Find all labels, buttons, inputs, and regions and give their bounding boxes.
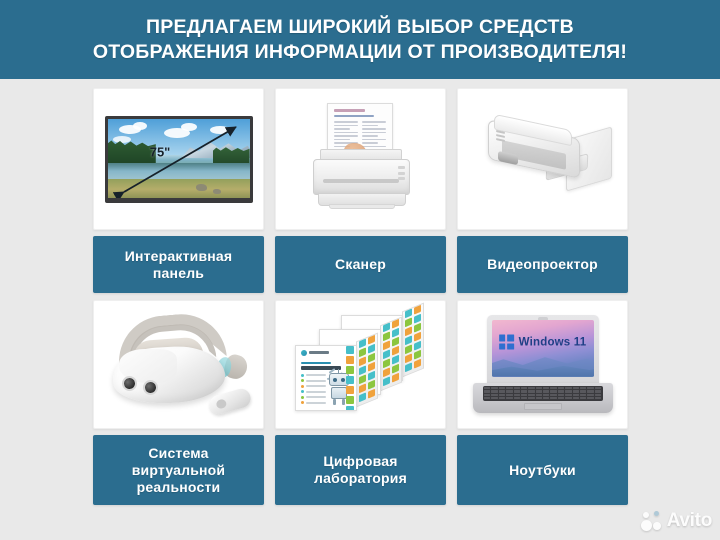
avito-watermark: Avito <box>641 510 712 532</box>
avito-logo-icon <box>641 511 663 531</box>
product-cell-vr[interactable]: Система виртуальной реальности <box>93 300 264 505</box>
product-label: Сканер <box>335 256 386 273</box>
diagonal-measure-arrow <box>108 119 250 198</box>
digital-lab-kit-photo <box>289 313 433 417</box>
product-label: Цифровая лаборатория <box>314 453 407 487</box>
product-grid: 75" Интерактивная панель <box>93 88 628 505</box>
product-label: Система виртуальной реальности <box>132 445 226 496</box>
product-label-card[interactable]: Система виртуальной реальности <box>93 435 264 505</box>
video-projector-photo <box>472 107 614 211</box>
windows-logo-icon <box>499 335 514 350</box>
product-image-card[interactable]: Windows 11 <box>457 300 628 429</box>
product-cell-digital-lab[interactable]: Цифровая лаборатория <box>275 300 446 505</box>
lab-brand-logo <box>301 350 329 356</box>
laptop-photo: Windows 11 <box>473 315 613 415</box>
product-image-card[interactable] <box>275 88 446 230</box>
page-title: ПРЕДЛАГАЕМ ШИРОКИЙ ВЫБОР СРЕДСТВ ОТОБРАЖ… <box>93 15 627 65</box>
vr-headset-photo <box>103 313 255 417</box>
product-label: Видеопроектор <box>487 256 598 273</box>
product-label: Интерактивная панель <box>125 248 233 282</box>
document-scanner-photo <box>296 103 426 215</box>
product-label-card[interactable]: Цифровая лаборатория <box>275 435 446 505</box>
product-label: Ноутбуки <box>509 462 576 479</box>
product-image-card[interactable]: 75" <box>93 88 264 230</box>
product-image-card[interactable] <box>457 88 628 230</box>
panel-size-label: 75" <box>150 144 171 159</box>
product-image-card[interactable] <box>93 300 264 429</box>
product-label-card[interactable]: Сканер <box>275 236 446 293</box>
page-header: ПРЕДЛАГАЕМ ШИРОКИЙ ВЫБОР СРЕДСТВ ОТОБРАЖ… <box>0 0 720 79</box>
laptop-keyboard <box>483 386 603 401</box>
lab-kit-box <box>295 345 377 411</box>
product-image-card[interactable] <box>275 300 446 429</box>
product-label-card[interactable]: Видеопроектор <box>457 236 628 293</box>
avito-wordmark: Avito <box>667 510 712 532</box>
product-cell-scanner[interactable]: Сканер <box>275 88 446 293</box>
laptop-screen: Windows 11 <box>492 320 594 377</box>
product-cell-interactive-panel[interactable]: 75" Интерактивная панель <box>93 88 264 293</box>
product-label-card[interactable]: Интерактивная панель <box>93 236 264 293</box>
product-cell-projector[interactable]: Видеопроектор <box>457 88 628 293</box>
interactive-panel-photo: 75" <box>105 116 253 203</box>
laptop-trackpad <box>524 403 562 410</box>
product-label-card[interactable]: Ноутбуки <box>457 435 628 505</box>
product-cell-laptop[interactable]: Windows 11 <box>457 300 628 505</box>
windows-version-label: Windows 11 <box>519 336 587 348</box>
